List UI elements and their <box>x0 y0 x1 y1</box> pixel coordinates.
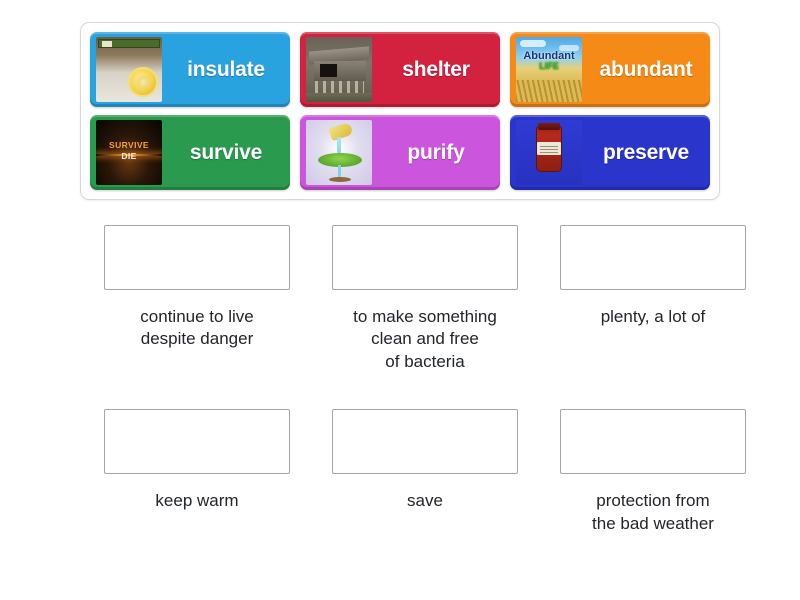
tile-label: purify <box>372 141 500 165</box>
draggable-tile-insulate[interactable]: insulate <box>90 32 290 107</box>
ground-icon <box>306 93 372 102</box>
drop-zone[interactable] <box>104 409 290 474</box>
draggable-tile-survive[interactable]: SURVIVE DIE survive <box>90 115 290 190</box>
definition-label: save <box>325 490 525 512</box>
insulation-roll-icon <box>128 67 158 97</box>
draggable-tile-abundant[interactable]: Abundant LIFE abundant <box>510 32 710 107</box>
tile-label: abundant <box>582 58 710 82</box>
drop-zone[interactable] <box>332 409 518 474</box>
pouring-vessel-icon <box>329 122 354 141</box>
tile-thumbnail-shelter <box>300 32 372 107</box>
draggable-tile-shelter[interactable]: shelter <box>300 32 500 107</box>
tile-label: preserve <box>582 141 710 165</box>
tile-label: shelter <box>372 58 500 82</box>
drop-zone[interactable] <box>332 225 518 290</box>
jar-label-icon <box>537 142 561 155</box>
insulation-banner-icon <box>98 39 160 48</box>
definition-label: to make something clean and free of bact… <box>325 306 525 373</box>
tile-grid: insulate shelter Abundant <box>90 32 710 190</box>
answer-cell: save <box>325 409 525 535</box>
filter-base-icon <box>329 177 351 182</box>
tile-thumbnail-purify <box>300 115 372 190</box>
tile-label: insulate <box>162 58 290 82</box>
answer-row: keep warm save protection from the bad w… <box>97 409 707 535</box>
answer-row: continue to live despite danger to make … <box>97 225 707 373</box>
answer-cell: plenty, a lot of <box>553 225 753 373</box>
cloud-icon <box>520 40 546 47</box>
definition-label: plenty, a lot of <box>553 306 753 328</box>
tile-label: survive <box>162 141 290 165</box>
definition-label: continue to live despite danger <box>97 306 297 351</box>
answer-cell: continue to live despite danger <box>97 225 297 373</box>
definition-label: protection from the bad weather <box>553 490 753 535</box>
draggable-tile-purify[interactable]: purify <box>300 115 500 190</box>
answer-cell: protection from the bad weather <box>553 409 753 535</box>
thumbnail-text-die: DIE <box>96 151 162 161</box>
thumbnail-text-life: LIFE <box>516 62 582 71</box>
tile-thumbnail-preserve <box>510 115 582 190</box>
hut-stilts-icon <box>315 81 364 93</box>
answer-cell: keep warm <box>97 409 297 535</box>
drop-zone[interactable] <box>104 225 290 290</box>
hut-door-icon <box>320 64 337 77</box>
tile-thumbnail-insulate <box>90 32 162 107</box>
water-drip-icon <box>338 165 341 177</box>
draggable-tile-preserve[interactable]: preserve <box>510 115 710 190</box>
thumbnail-text-survive: SURVIVE <box>96 140 162 150</box>
drop-zone[interactable] <box>560 409 746 474</box>
definition-label: keep warm <box>97 490 297 512</box>
drop-zone[interactable] <box>560 225 746 290</box>
wheat-field-icon <box>516 80 582 102</box>
word-tile-bank: insulate shelter Abundant <box>80 22 720 200</box>
jar-lid-icon <box>538 123 560 130</box>
answer-cell: to make something clean and free of bact… <box>325 225 525 373</box>
tile-thumbnail-survive: SURVIVE DIE <box>90 115 162 190</box>
tile-thumbnail-abundant: Abundant LIFE <box>510 32 582 107</box>
answer-area: continue to live despite danger to make … <box>97 225 707 535</box>
